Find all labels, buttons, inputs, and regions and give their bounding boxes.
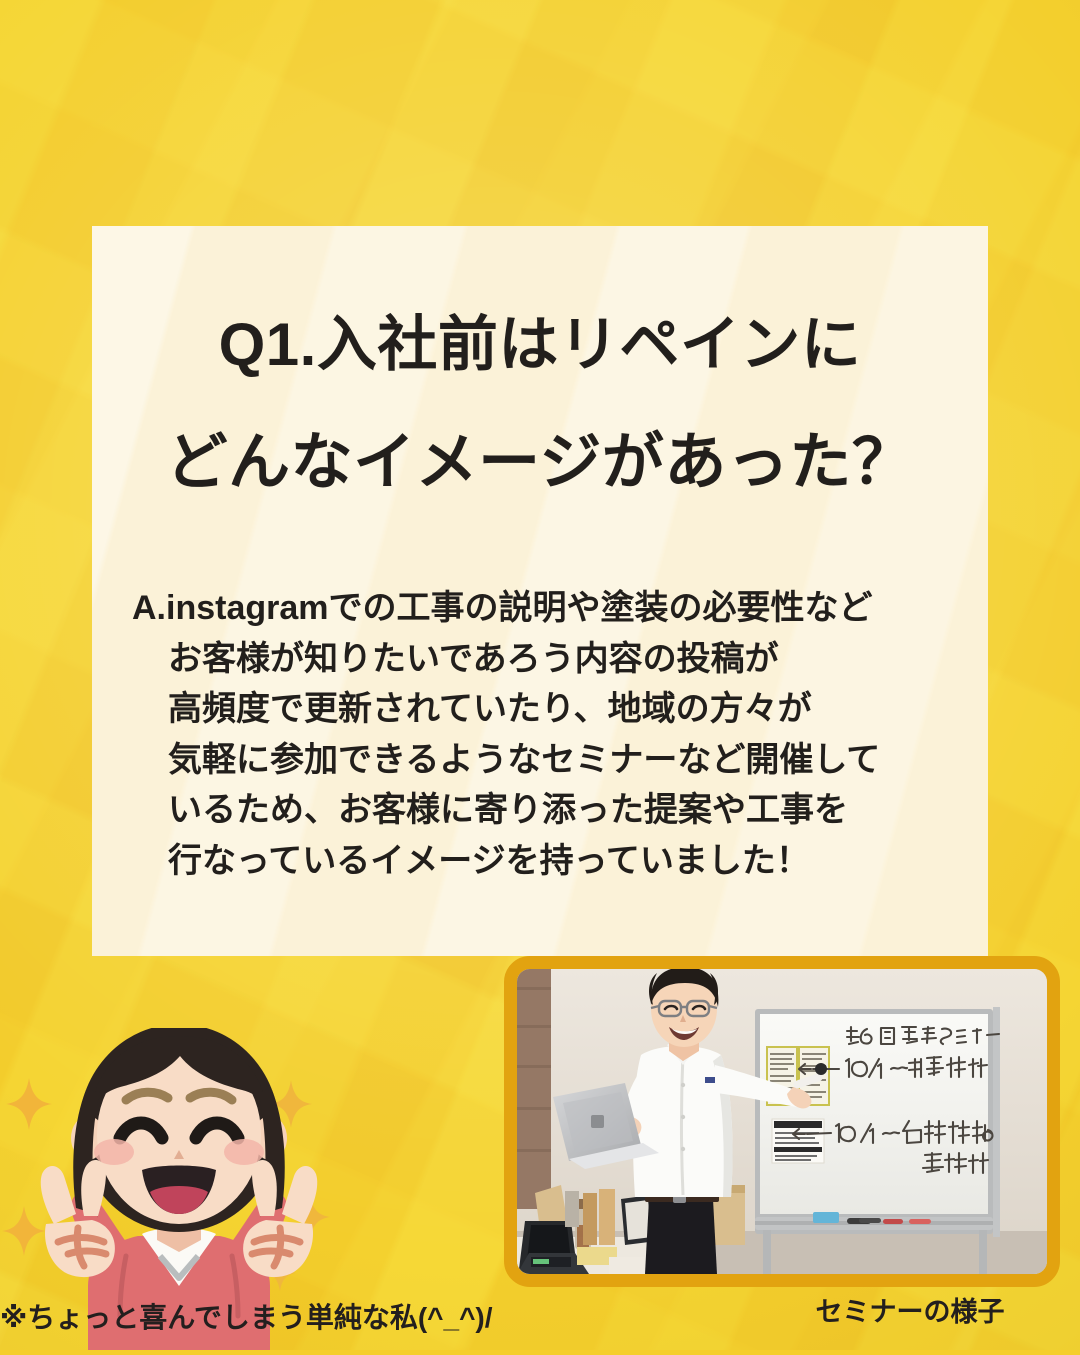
answer-line-4: 気軽に参加できるようなセミナーなど開催して: [132, 735, 988, 786]
page-title: Q1.入社前はリペインに どんなイメージがあった？: [92, 286, 988, 522]
left-caption: ※ちょっと喜んでしまう単純な私(^_^)/: [0, 1296, 470, 1336]
answer-line-6: 行なっているイメージを持っていました！: [132, 836, 988, 887]
answer-line-3: 高頻度で更新されていたり、地域の方々が: [132, 684, 988, 735]
headline-line-1: Q1.入社前はリペインに: [92, 286, 988, 404]
answer-line-2: お客様が知りたいであろう内容の投稿が: [132, 634, 988, 685]
answer-line-5: いるため、お客様に寄り添った提案や工事を: [132, 785, 988, 836]
answer-body: A.instagramでの工事の説明や塗装の必要性など お客様が知りたいであろう…: [132, 583, 988, 886]
answer-line-1: A.instagramでの工事の説明や塗装の必要性など: [132, 583, 988, 634]
headline-line-2: どんなイメージがあった？: [92, 404, 988, 522]
photo-caption: セミナーの様子: [760, 1290, 1060, 1329]
seminar-photo: [504, 956, 1060, 1287]
